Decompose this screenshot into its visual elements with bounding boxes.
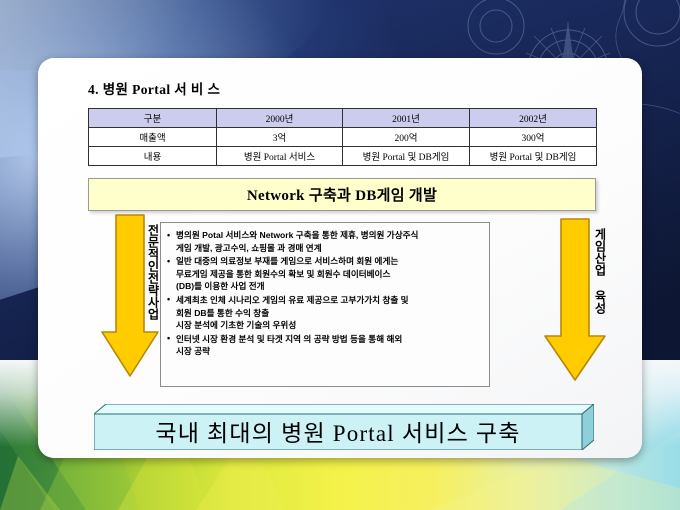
bottom-banner: 국내 최대의 병원 Portal 서비스 구축 bbox=[94, 404, 594, 450]
table-header-cell: 2001년 bbox=[343, 109, 470, 128]
left-arrow-label: 전문적인전략사업 bbox=[101, 224, 159, 364]
network-banner: Network 구축과 DB게임 개발 bbox=[88, 178, 596, 211]
bottom-banner-label: 국내 최대의 병원 Portal 서비스 구축 bbox=[102, 415, 574, 447]
table-row-label: 매출액 bbox=[89, 128, 217, 147]
table-row: 내용 병원 Portal 서비스 병원 Portal 및 DB게임 병원 Por… bbox=[89, 147, 597, 166]
list-item: 병의원 Potal 서비스와 Network 구축을 통한 제휴, 병의원 가상… bbox=[167, 229, 483, 254]
left-arrow-shape: 전문적인전략사업 bbox=[101, 214, 159, 378]
table-header-cell: 2000년 bbox=[217, 109, 343, 128]
table-cell: 병원 Portal 서비스 bbox=[217, 147, 343, 166]
table-cell: 병원 Portal 및 DB게임 bbox=[343, 147, 470, 166]
network-banner-label: Network 구축과 DB게임 개발 bbox=[247, 184, 437, 205]
list-item: 인터넷 시장 환경 분석 및 타겟 지역 의 공략 방법 등을 통해 해외 시장… bbox=[167, 333, 483, 358]
right-arrow-label: 게임산업 육성 bbox=[544, 228, 606, 358]
bullet-list-box: 병의원 Potal 서비스와 Network 구축을 통한 제휴, 병의원 가상… bbox=[160, 222, 490, 387]
page-title: 4. 병원 Portal 서 비 스 bbox=[88, 78, 220, 98]
table-cell: 3억 bbox=[217, 128, 343, 147]
table-cell: 병원 Portal 및 DB게임 bbox=[470, 147, 597, 166]
table-row: 매출액 3억 200억 300억 bbox=[89, 128, 597, 147]
bullet-list: 병의원 Potal 서비스와 Network 구축을 통한 제휴, 병의원 가상… bbox=[167, 229, 483, 358]
list-item: 일반 대중의 의료정보 부재를 게임으로 서비스하며 회원 에게는 무료게임 제… bbox=[167, 255, 483, 293]
table-header-cell: 구분 bbox=[89, 109, 217, 128]
table-header-row: 구분 2000년 2001년 2002년 bbox=[89, 109, 597, 128]
table-cell: 300억 bbox=[470, 128, 597, 147]
table-row-label: 내용 bbox=[89, 147, 217, 166]
slide-canvas: 4. 병원 Portal 서 비 스 구분 2000년 2001년 2002년 … bbox=[0, 0, 680, 510]
table-header-cell: 2002년 bbox=[470, 109, 597, 128]
list-item: 세계최초 인체 시나리오 게임의 유료 제공으로 고부가가치 창출 및 회원 D… bbox=[167, 294, 483, 332]
right-arrow-shape: 게임산업 육성 bbox=[544, 218, 606, 382]
table-cell: 200억 bbox=[343, 128, 470, 147]
revenue-table: 구분 2000년 2001년 2002년 매출액 3억 200억 300억 내용… bbox=[88, 108, 597, 166]
